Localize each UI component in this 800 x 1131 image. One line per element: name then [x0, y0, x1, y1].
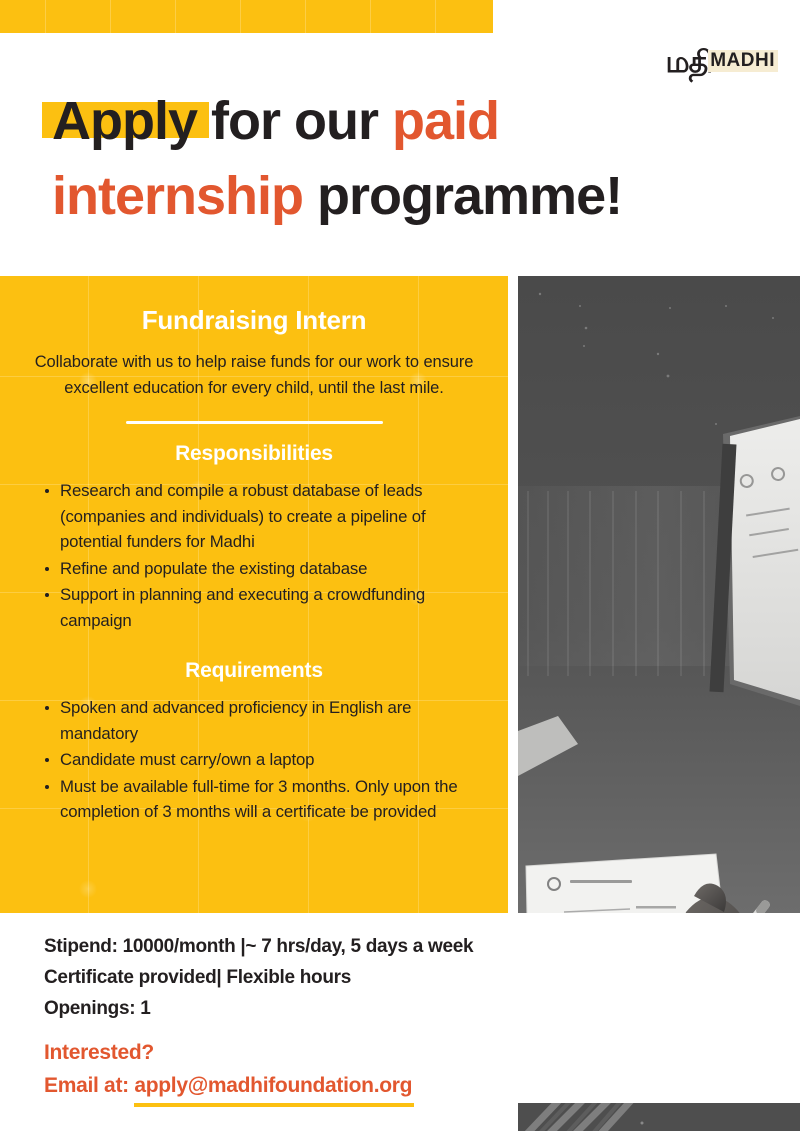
interested-label: Interested?	[44, 1036, 644, 1069]
photo-illustration: Let us know	[518, 276, 800, 913]
responsibilities-list: Research and compile a robust database o…	[28, 478, 480, 633]
headline-word-apply: Apply	[52, 91, 197, 151]
stipend-line: Stipend: 10000/month |~ 7 hrs/day, 5 day…	[44, 932, 604, 963]
logo-wordmark: MADHI	[708, 50, 778, 72]
email-prefix-label: Email at:	[44, 1074, 134, 1097]
list-item: Refine and populate the existing databas…	[42, 556, 474, 582]
desk-photo-strip	[518, 1103, 800, 1131]
grid-pattern	[0, 0, 493, 33]
page-title: Apply for our paid internship programme!	[52, 84, 752, 233]
headline-text-programme: programme!	[303, 166, 622, 226]
photo-strip-illustration	[518, 1103, 800, 1131]
job-title: Fundraising Intern	[28, 305, 480, 336]
section-divider	[126, 421, 383, 424]
list-item: Must be available full-time for 3 months…	[42, 774, 474, 825]
madhi-logo: மதி MADHI	[665, 28, 778, 76]
job-meta-block: Stipend: 10000/month |~ 7 hrs/day, 5 day…	[44, 932, 604, 1024]
headline-word-paid: paid	[392, 91, 499, 151]
email-line: Email at: apply@madhifoundation.org	[44, 1069, 644, 1102]
requirements-list: Spoken and advanced proficiency in Engli…	[28, 695, 480, 825]
headline-word-internship: internship	[52, 166, 303, 226]
job-details-panel: Fundraising Intern Collaborate with us t…	[0, 276, 508, 913]
list-item: Support in planning and executing a crow…	[42, 582, 474, 633]
requirements-heading: Requirements	[28, 659, 480, 683]
student-worksheet-photo: Let us know	[518, 276, 800, 913]
email-address-link[interactable]: apply@madhifoundation.org	[134, 1069, 412, 1102]
list-item: Candidate must carry/own a laptop	[42, 747, 474, 773]
certificate-line: Certificate provided| Flexible hours	[44, 963, 604, 994]
headline-line-2: internship programme!	[52, 159, 752, 234]
cta-block: Interested? Email at: apply@madhifoundat…	[44, 1036, 644, 1102]
job-description: Collaborate with us to help raise funds …	[28, 350, 480, 401]
logo-tamil-mark: மதி	[665, 48, 712, 78]
top-accent-bar	[0, 0, 493, 33]
headline-text-for-our: for our	[197, 91, 392, 151]
list-item: Research and compile a robust database o…	[42, 478, 474, 555]
apply-highlight: Apply	[52, 84, 197, 159]
responsibilities-heading: Responsibilities	[28, 442, 480, 466]
list-item: Spoken and advanced proficiency in Engli…	[42, 695, 474, 746]
headline-line-1: Apply for our paid	[52, 84, 752, 159]
openings-line: Openings: 1	[44, 994, 604, 1025]
